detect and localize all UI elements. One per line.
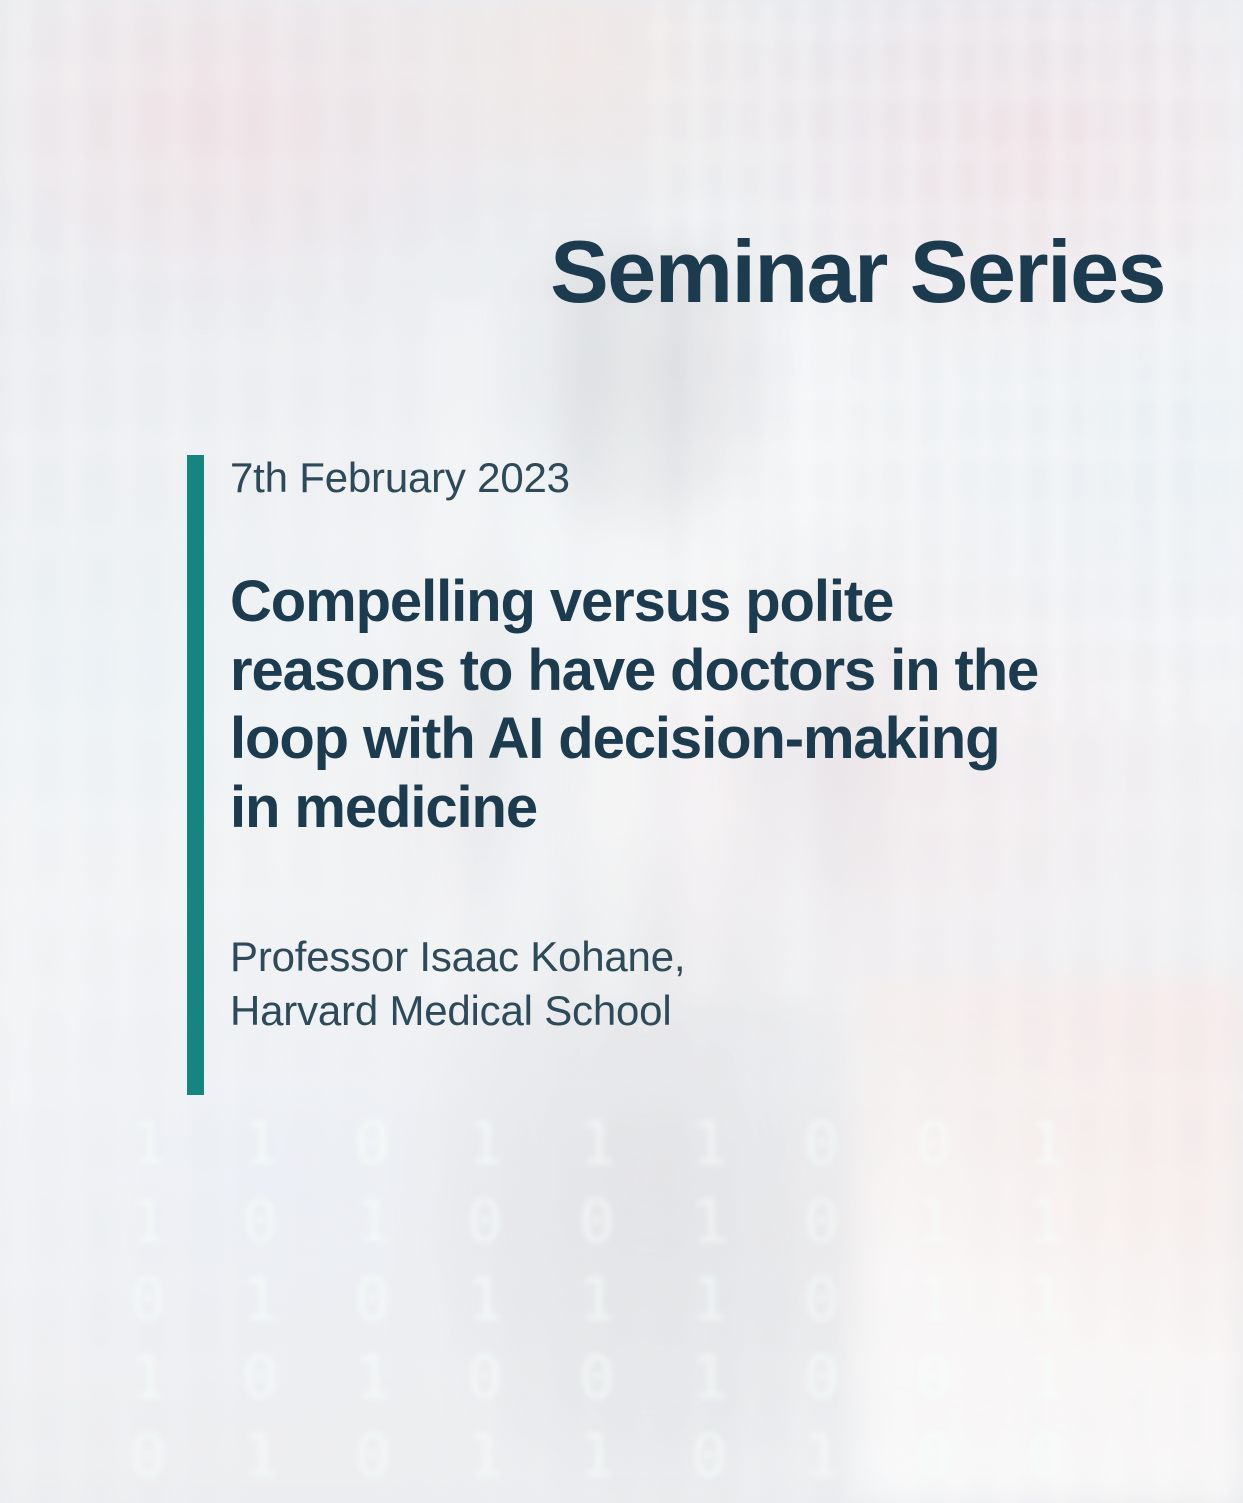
event-date: 7th February 2023 bbox=[230, 455, 1170, 500]
poster-content: Seminar Series 7th February 2023 Compell… bbox=[0, 0, 1243, 1503]
speaker-affiliation: Harvard Medical School bbox=[230, 984, 1170, 1038]
talk-title-line: loop with AI decision-making bbox=[230, 705, 1170, 773]
series-title: Seminar Series bbox=[0, 228, 1165, 316]
talk-title-line: Compelling versus polite bbox=[230, 568, 1170, 636]
poster-body: 7th February 2023 Compelling versus poli… bbox=[230, 455, 1170, 1038]
seminar-poster: 1 1 0 1 1 1 0 0 1 1 0 1 0 0 1 0 1 1 0 1 … bbox=[0, 0, 1243, 1503]
speaker-block: Professor Isaac Kohane, Harvard Medical … bbox=[230, 930, 1170, 1038]
speaker-name: Professor Isaac Kohane, bbox=[230, 930, 1170, 984]
accent-rule bbox=[187, 455, 204, 1095]
talk-title-line: in medicine bbox=[230, 774, 1170, 842]
talk-title: Compelling versus polite reasons to have… bbox=[230, 568, 1170, 842]
talk-title-line: reasons to have doctors in the bbox=[230, 637, 1170, 705]
